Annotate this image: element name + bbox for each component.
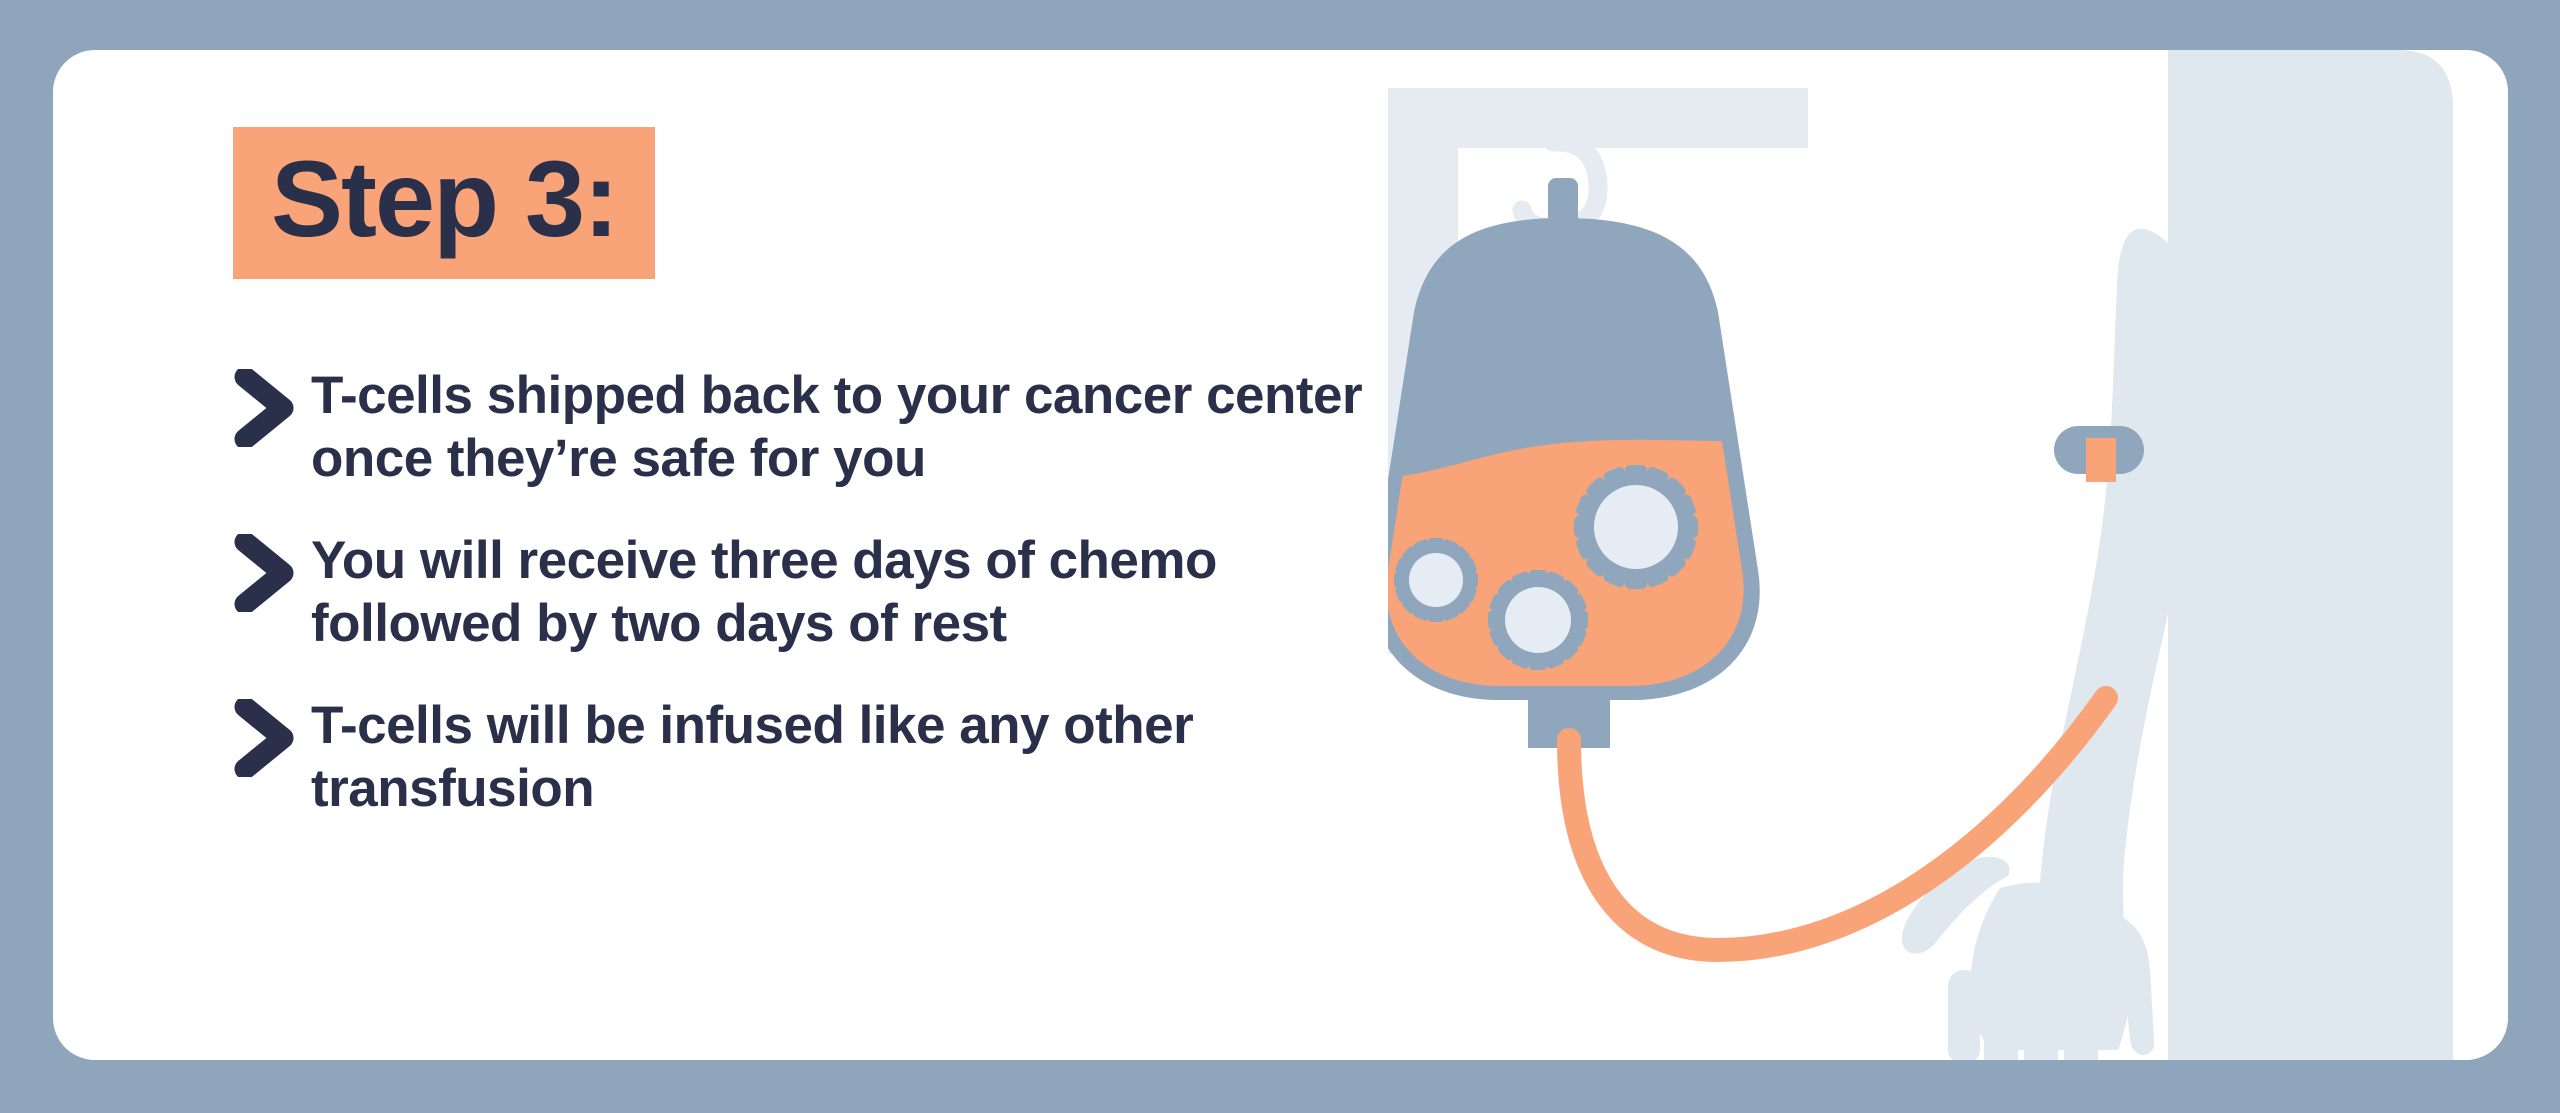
content-card: Step 3: T-cells shipped back to your can… xyxy=(53,50,2508,1060)
list-item-label: T-cells will be infused like any other t… xyxy=(311,695,1401,820)
page-title: Step 3: xyxy=(271,145,617,253)
iv-infusion-illustration xyxy=(1388,50,2508,1060)
chevron-right-icon xyxy=(233,534,297,612)
t-cell-gear-medium xyxy=(1488,570,1588,670)
t-cell-gear-large xyxy=(1574,465,1698,589)
chevron-right-icon xyxy=(233,699,297,777)
bullet-list: T-cells shipped back to your cancer cent… xyxy=(233,365,1433,820)
text-column: Step 3: T-cells shipped back to your can… xyxy=(233,127,1433,820)
chevron-right-icon xyxy=(233,369,297,447)
infographic-canvas: Step 3: T-cells shipped back to your can… xyxy=(0,0,2560,1113)
list-item-label: T-cells shipped back to your cancer cent… xyxy=(311,365,1401,490)
list-item-label: You will receive three days of chemo fol… xyxy=(311,530,1401,655)
patient-torso xyxy=(2168,50,2453,1060)
list-item: T-cells will be infused like any other t… xyxy=(233,695,1433,820)
t-cell-gear-small xyxy=(1394,538,1478,622)
iv-needle-tape xyxy=(2086,438,2116,482)
list-item: You will receive three days of chemo fol… xyxy=(233,530,1433,655)
step-title-chip: Step 3: xyxy=(233,127,655,279)
list-item: T-cells shipped back to your cancer cent… xyxy=(233,365,1433,490)
iv-pole-top-rail xyxy=(1388,88,1808,148)
